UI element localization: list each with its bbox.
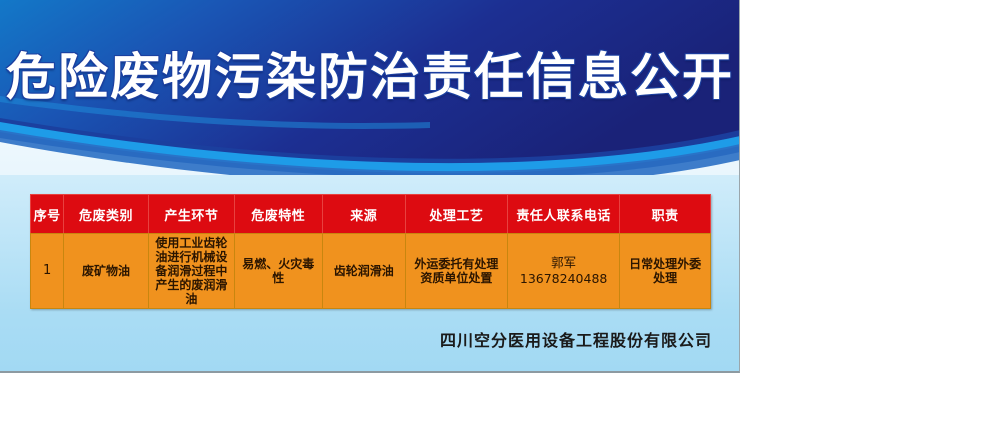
cell-process: 外运委托有处理资质单位处置 (405, 234, 507, 309)
contact-phone: 13678240488 (511, 271, 616, 287)
cell-index: 1 (31, 234, 64, 309)
table-header-row: 序号 危废类别 产生环节 危废特性 来源 处理工艺 责任人联系电话 职责 (31, 195, 711, 234)
col-header-index: 序号 (31, 195, 64, 234)
page-title: 危险废物污染防治责任信息公开 (0, 46, 740, 108)
cell-category: 废矿物油 (64, 234, 148, 309)
cell-source: 齿轮润滑油 (322, 234, 405, 309)
col-header-process: 处理工艺 (405, 195, 507, 234)
cell-duty: 日常处理外委处理 (620, 234, 711, 309)
table-row: 1 废矿物油 使用工业齿轮油进行机械设备润滑过程中产生的废润滑油 易燃、火灾毒性… (31, 234, 711, 309)
information-disclosure-poster: 危险废物污染防治责任信息公开 序号 危废类别 产生环节 危废特性 来源 处理工艺… (0, 0, 740, 373)
col-header-stage: 产生环节 (148, 195, 234, 234)
contact-name: 郭军 (511, 255, 616, 271)
col-header-duty: 职责 (620, 195, 711, 234)
cell-contact: 郭军 13678240488 (507, 234, 619, 309)
waste-info-table: 序号 危废类别 产生环节 危废特性 来源 处理工艺 责任人联系电话 职责 1 废… (30, 194, 711, 309)
hazardous-waste-table: 序号 危废类别 产生环节 危废特性 来源 处理工艺 责任人联系电话 职责 1 废… (30, 194, 711, 309)
company-name: 四川空分医用设备工程股份有限公司 (30, 327, 712, 351)
cell-stage: 使用工业齿轮油进行机械设备润滑过程中产生的废润滑油 (148, 234, 234, 309)
cell-characteristic: 易燃、火灾毒性 (235, 234, 322, 309)
col-header-category: 危废类别 (64, 195, 148, 234)
col-header-characteristic: 危废特性 (235, 195, 322, 234)
col-header-source: 来源 (322, 195, 405, 234)
col-header-contact: 责任人联系电话 (507, 195, 619, 234)
